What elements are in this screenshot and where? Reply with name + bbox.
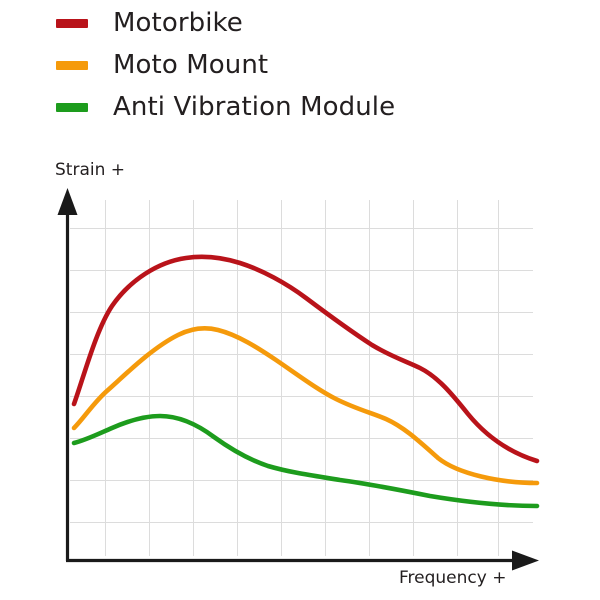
y-axis-label: Strain + — [55, 160, 125, 180]
chart-svg — [0, 0, 600, 600]
x-axis-label: Frequency + — [399, 568, 506, 588]
arrow-up-icon — [58, 188, 78, 215]
chart-page: Motorbike Moto Mount Anti Vibration Modu… — [0, 0, 600, 600]
y-axis — [58, 188, 78, 561]
arrow-right-icon — [512, 551, 539, 571]
chart-series — [74, 257, 537, 506]
series-line-anti-vibration-module — [74, 416, 537, 506]
chart-area: Strain + Frequency + — [0, 0, 600, 600]
series-line-moto-mount — [74, 328, 537, 483]
